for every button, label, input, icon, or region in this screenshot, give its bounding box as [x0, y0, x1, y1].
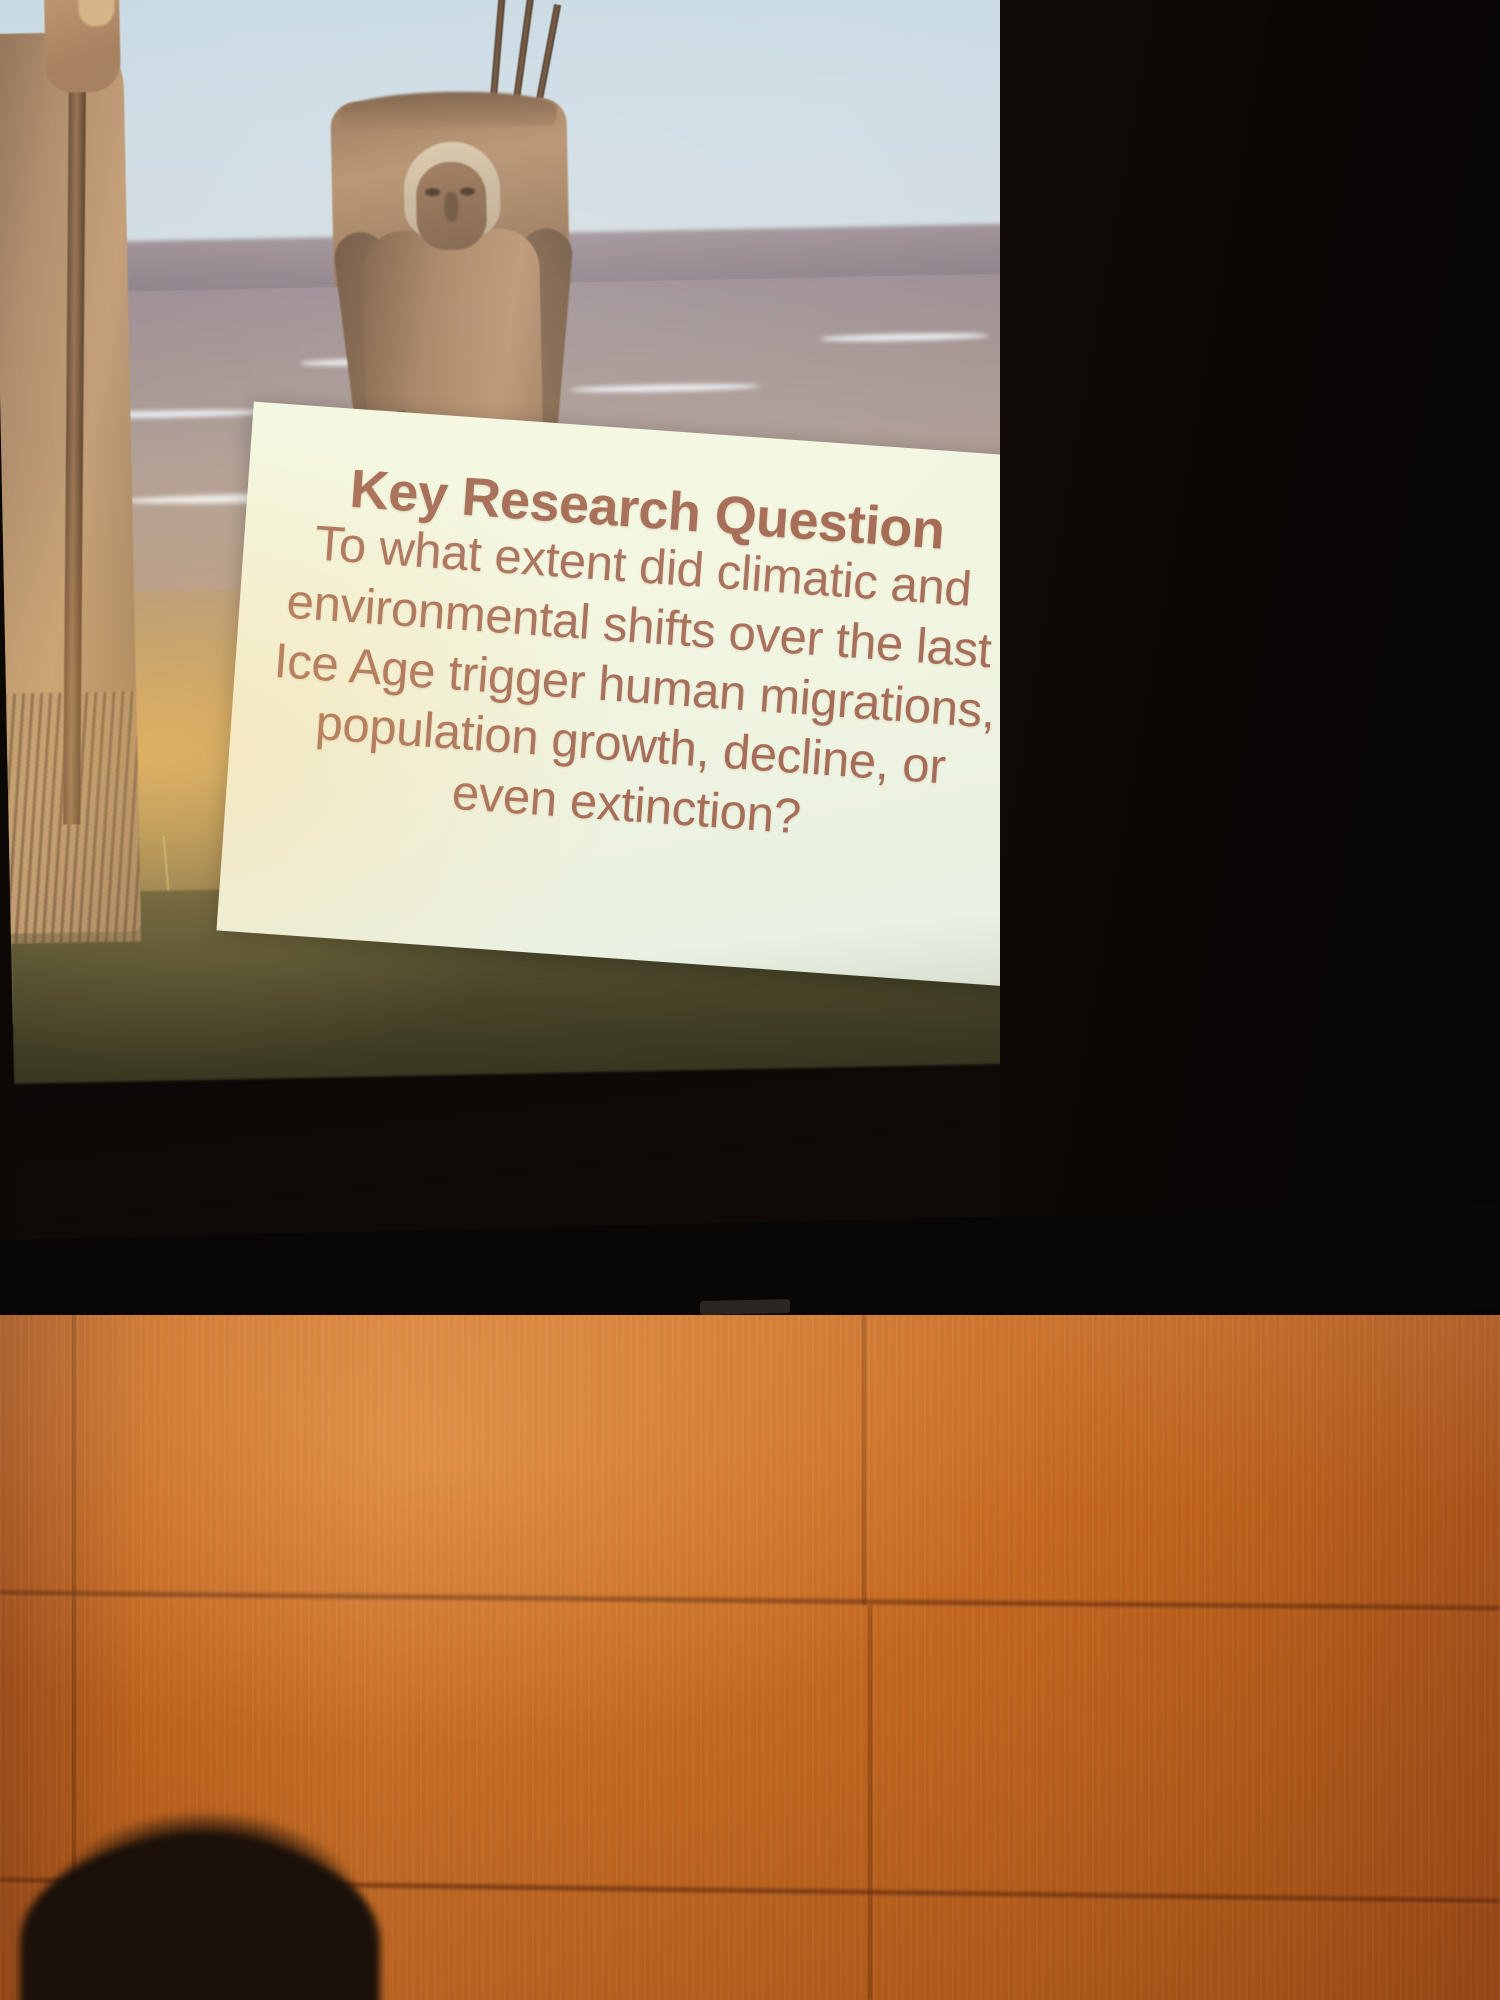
photo-scene: Key Research Question To what extent did… — [0, 0, 1500, 2000]
projection-screen: Key Research Question To what extent did… — [0, 0, 1500, 1330]
screen-mount-bracket — [700, 1299, 790, 1315]
wood-panel-wall — [0, 1315, 1500, 2000]
presentation-slide: Key Research Question To what extent did… — [0, 0, 1168, 1314]
slide-caption-box: Key Research Question To what extent did… — [216, 402, 1051, 987]
screen-right-bezel — [1000, 0, 1500, 1330]
slide-figure-with-staff — [0, 0, 166, 934]
